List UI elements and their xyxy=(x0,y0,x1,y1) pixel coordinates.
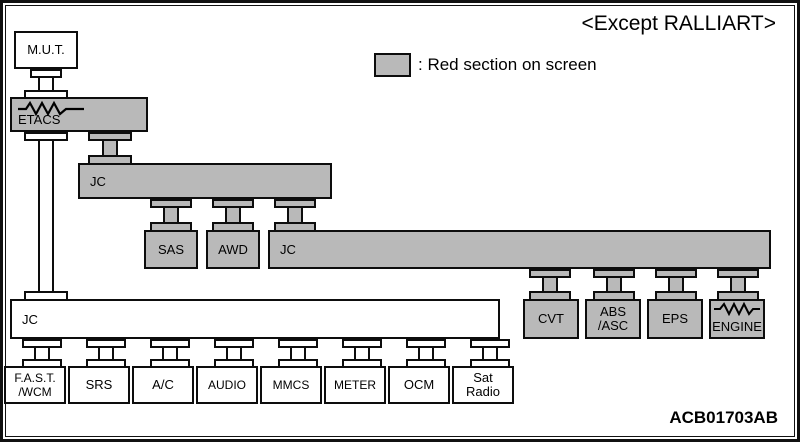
node-engine[interactable]: ENGINE xyxy=(709,299,765,339)
node-mmcs[interactable]: MMCS xyxy=(260,366,322,404)
node-sat-radio-label: Sat Radio xyxy=(464,371,502,399)
connector-stem-jcmid xyxy=(287,208,303,222)
connector-stem-eps xyxy=(668,278,684,291)
page-title: <Except RALLIART> xyxy=(581,12,776,36)
node-mmcs-label: MMCS xyxy=(271,378,312,392)
connector-stem-ac xyxy=(162,348,178,359)
node-sas-label: SAS xyxy=(156,243,186,257)
node-mut[interactable]: M.U.T. xyxy=(14,31,78,69)
connector-flange-awd-top xyxy=(212,199,254,208)
connector-flange-satradio-top xyxy=(470,339,510,348)
node-srs-label: SRS xyxy=(84,378,115,392)
connector-flange-ac-top xyxy=(150,339,190,348)
connector-flange-etacs-bottom-right xyxy=(88,132,132,141)
node-etacs-label: ETACS xyxy=(12,113,62,130)
connector-flange-absasc-top xyxy=(593,269,635,278)
node-ac[interactable]: A/C xyxy=(132,366,194,404)
connector-flange-mmcs-top xyxy=(278,339,318,348)
bus-jc-mid-label: JC xyxy=(270,242,296,257)
bus-jc-top-label: JC xyxy=(80,174,106,189)
connector-flange-mut-bottom xyxy=(30,69,62,78)
node-abs-asc-label: ABS /ASC xyxy=(596,305,630,333)
connector-stem-engine xyxy=(730,278,746,291)
figure-id-label: ACB01703AB xyxy=(669,408,778,428)
diagram-canvas: <Except RALLIART> : Red section on scree… xyxy=(0,0,800,442)
node-meter[interactable]: METER xyxy=(324,366,386,404)
node-ac-label: A/C xyxy=(150,378,176,392)
node-ocm[interactable]: OCM xyxy=(388,366,450,404)
connector-flange-meter-top xyxy=(342,339,382,348)
bus-jc-bottom[interactable]: JC xyxy=(10,299,500,339)
connector-flange-audio-top xyxy=(214,339,254,348)
node-engine-label: ENGINE xyxy=(710,320,764,337)
connector-stem-srs xyxy=(98,348,114,359)
connector-flange-ocm-top xyxy=(406,339,446,348)
node-audio[interactable]: AUDIO xyxy=(196,366,258,404)
connector-flange-jcmid-top xyxy=(274,199,316,208)
gray-swatch-icon xyxy=(374,53,411,77)
connector-stem-satradio xyxy=(482,348,498,359)
node-awd-label: AWD xyxy=(216,243,250,257)
connector-stem-etacs-jcbottom xyxy=(38,141,54,291)
connector-flange-fast-top xyxy=(22,339,62,348)
connector-stem-mut-etacs xyxy=(38,78,54,90)
connector-flange-sas-top xyxy=(150,199,192,208)
bus-jc-mid[interactable]: JC xyxy=(268,230,771,269)
connector-stem-mmcs xyxy=(290,348,306,359)
connector-stem-absasc xyxy=(606,278,622,291)
bus-jc-bottom-label: JC xyxy=(12,312,38,327)
node-eps[interactable]: EPS xyxy=(647,299,703,339)
connector-flange-srs-top xyxy=(86,339,126,348)
node-srs[interactable]: SRS xyxy=(68,366,130,404)
connector-stem-awd xyxy=(225,208,241,222)
node-cvt-label: CVT xyxy=(536,312,566,326)
connector-stem-audio xyxy=(226,348,242,359)
node-etacs[interactable]: ETACS xyxy=(10,97,148,132)
node-cvt[interactable]: CVT xyxy=(523,299,579,339)
connector-stem-etacs-jctop xyxy=(102,141,118,155)
node-abs-asc[interactable]: ABS /ASC xyxy=(585,299,641,339)
connector-flange-engine-top xyxy=(717,269,759,278)
connector-stem-sas xyxy=(163,208,179,222)
node-awd[interactable]: AWD xyxy=(206,230,260,269)
node-eps-label: EPS xyxy=(660,312,690,326)
connector-flange-cvt-top xyxy=(529,269,571,278)
connector-stem-ocm xyxy=(418,348,434,359)
node-sat-radio[interactable]: Sat Radio xyxy=(452,366,514,404)
node-mut-label: M.U.T. xyxy=(25,43,67,57)
node-meter-label: METER xyxy=(332,378,378,392)
node-fast-wcm-label: F.A.S.T. /WCM xyxy=(12,371,57,399)
node-ocm-label: OCM xyxy=(402,378,436,392)
bus-jc-top[interactable]: JC xyxy=(78,163,332,199)
connector-flange-etacs-bottom-left xyxy=(24,132,68,141)
node-sas[interactable]: SAS xyxy=(144,230,198,269)
connector-stem-cvt xyxy=(542,278,558,291)
node-fast-wcm[interactable]: F.A.S.T. /WCM xyxy=(4,366,66,404)
connector-stem-meter xyxy=(354,348,370,359)
node-audio-label: AUDIO xyxy=(206,378,248,392)
connector-stem-fast xyxy=(34,348,50,359)
legend-label: : Red section on screen xyxy=(418,55,597,75)
connector-flange-eps-top xyxy=(655,269,697,278)
